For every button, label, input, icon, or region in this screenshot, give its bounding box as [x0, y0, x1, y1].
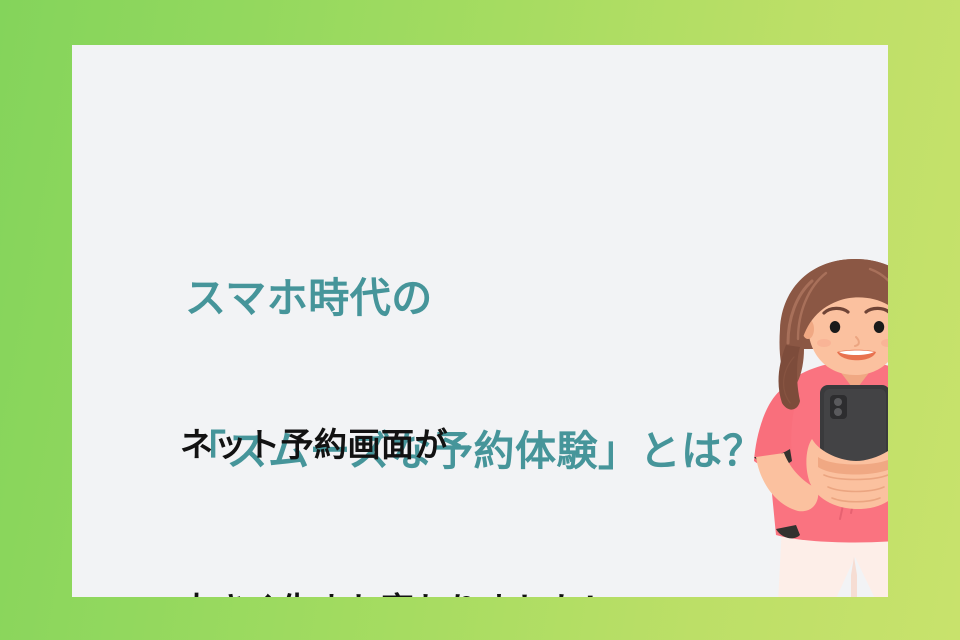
page-subtitle: ネット予約画面が 大きく生まれ変わりました！ [180, 307, 616, 597]
subheading-line-2: 大きく生まれ変わりました！ [180, 582, 616, 597]
camera-lens-bottom [834, 408, 842, 416]
left-eye [830, 321, 840, 333]
woman-holding-smartphone-illustration [720, 257, 888, 597]
left-cheek-blush [817, 339, 831, 347]
illustration-svg [720, 257, 888, 597]
content-card: スマホ時代の 「スムーズな予約体験」とは？ ネット予約画面が 大きく生まれ変わり… [72, 45, 888, 597]
slide-canvas: スマホ時代の 「スムーズな予約体験」とは？ ネット予約画面が 大きく生まれ変わり… [0, 0, 960, 640]
camera-lens-top [834, 398, 842, 406]
right-eye [874, 321, 884, 333]
subheading-line-1: ネット予約画面が [180, 417, 616, 472]
